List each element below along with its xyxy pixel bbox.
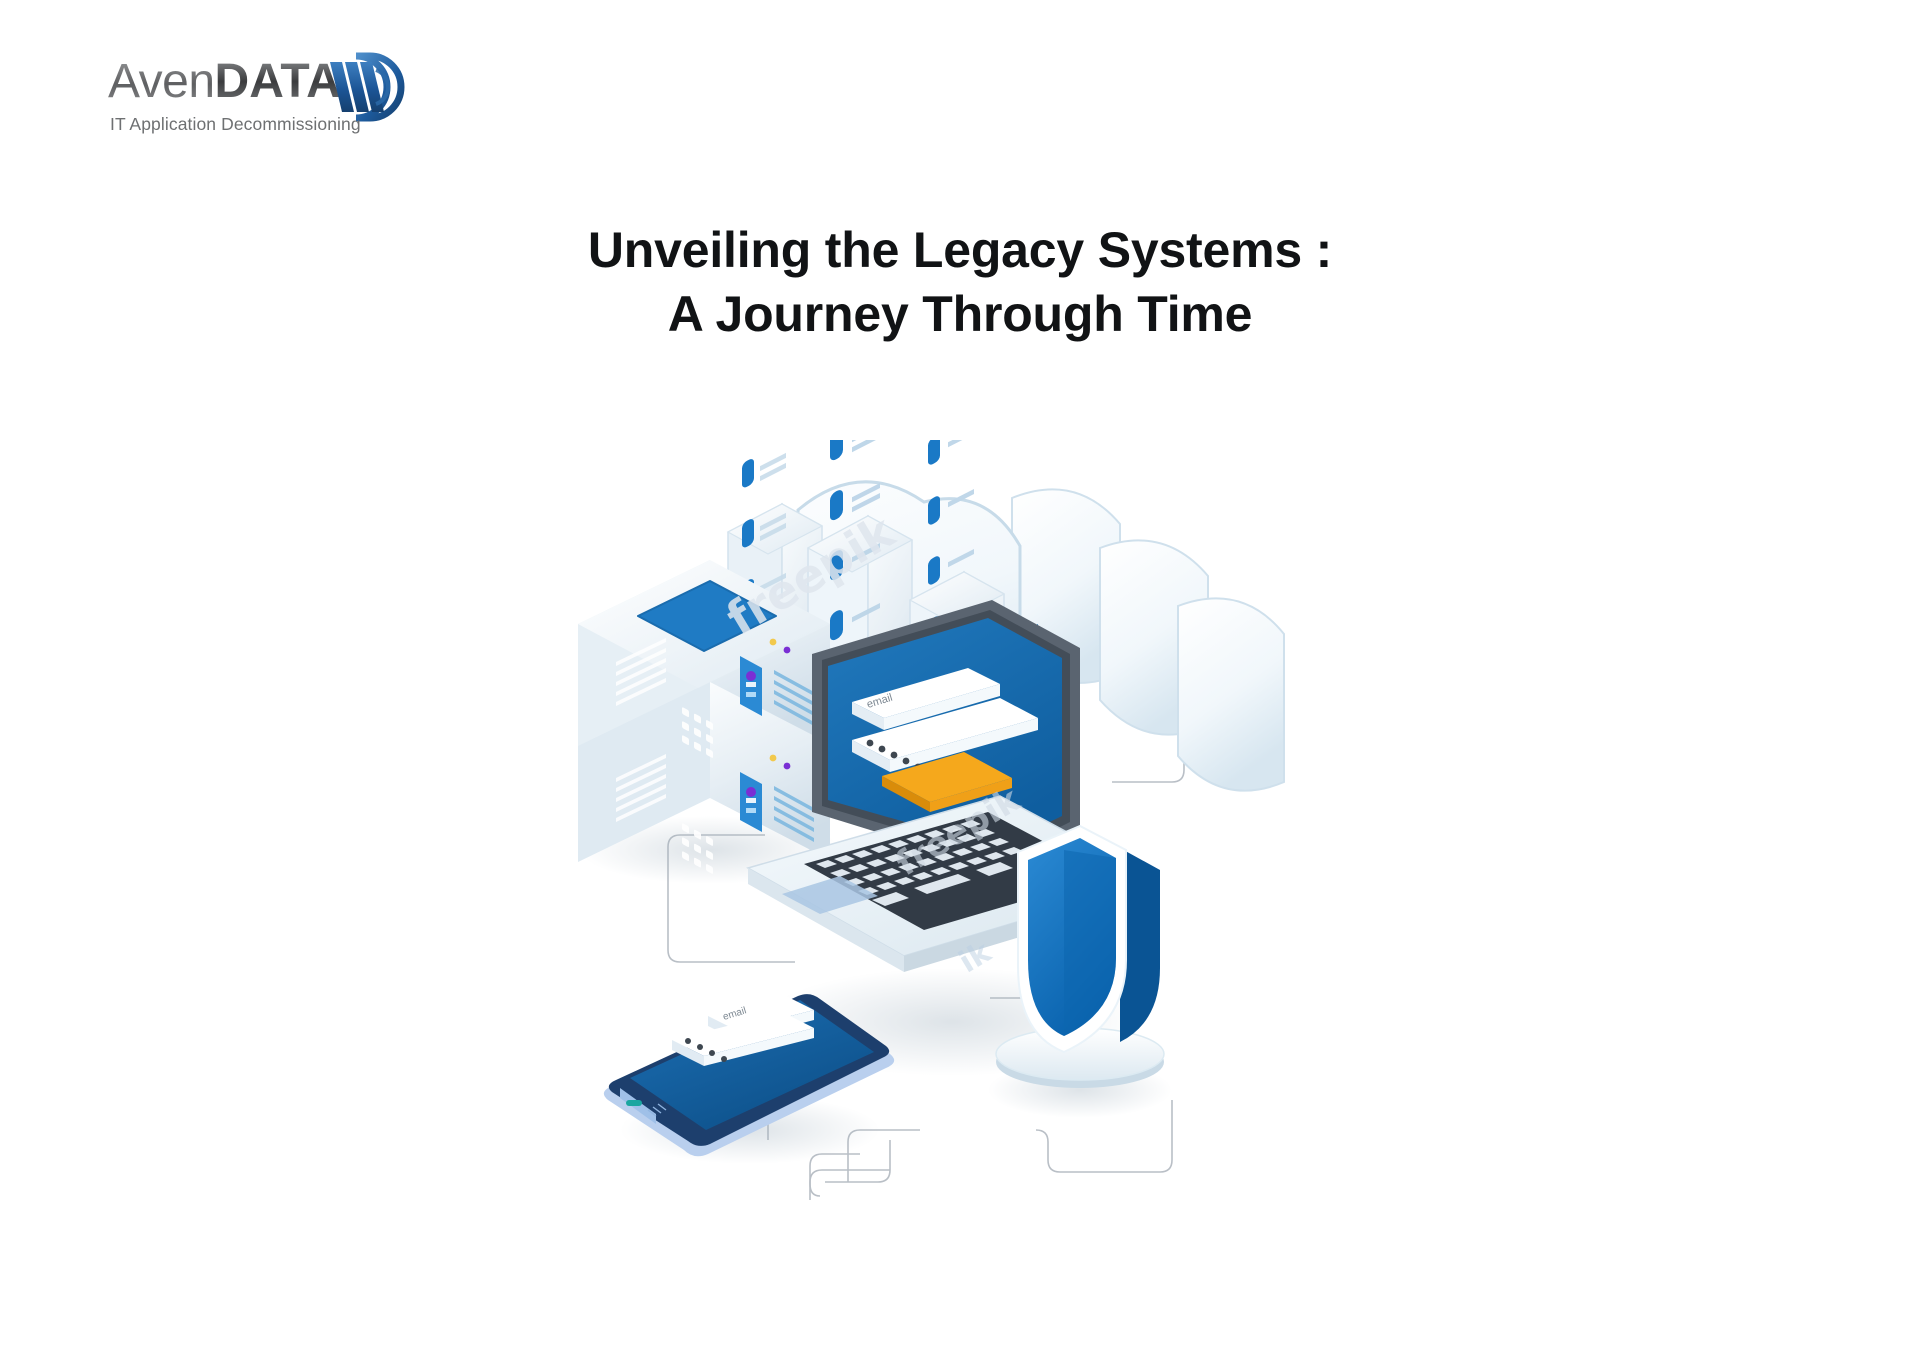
- brand-logo[interactable]: AvenDATA: [108, 52, 468, 152]
- logo-wordmark: AvenDATA: [108, 58, 341, 106]
- page-title: Unveiling the Legacy Systems : A Journey…: [0, 218, 1920, 346]
- isometric-cloud-security-illustration: email: [560, 440, 1380, 1200]
- logo-text-data: DATA: [215, 55, 341, 108]
- server-stack: [578, 560, 840, 884]
- logo-tagline: IT Application Decommissioning: [110, 114, 361, 135]
- page-root: AvenDATA: [0, 0, 1920, 1357]
- logo-text-aven: Aven: [108, 55, 215, 108]
- avendata-d-mark-icon: [326, 50, 412, 122]
- page-title-line-2: A Journey Through Time: [0, 282, 1920, 346]
- page-title-line-1: Unveiling the Legacy Systems :: [0, 218, 1920, 282]
